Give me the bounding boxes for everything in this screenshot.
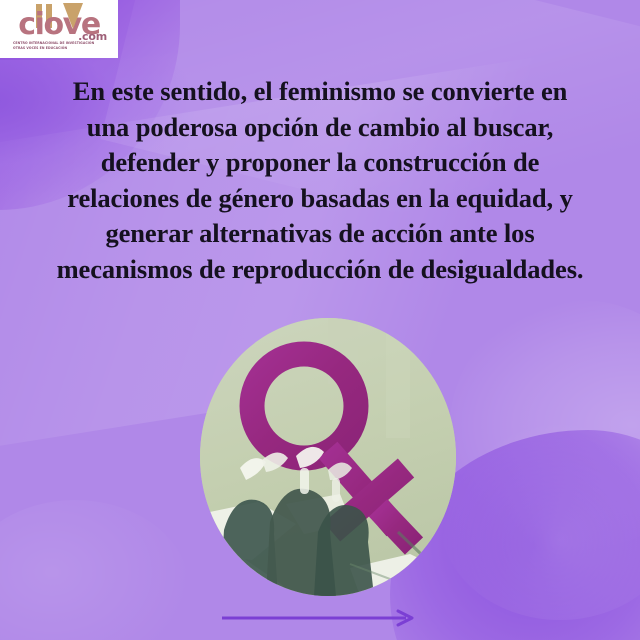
quote-line: En este sentido, el feminismo se convier… <box>18 74 622 110</box>
quote-text-block: En este sentido, el feminismo se convier… <box>18 74 622 287</box>
decorative-blob-bottom-left <box>0 500 190 640</box>
quote-line: mecanismos de reproducción de desigualda… <box>18 252 622 288</box>
quote-line: defender y proponer la construcción de <box>18 145 622 181</box>
feminist-protest-photo <box>200 318 456 596</box>
swipe-right-arrow[interactable] <box>222 609 418 627</box>
quote-line: una poderosa opción de cambio al buscar, <box>18 110 622 146</box>
ciiove-logo[interactable]: ciove .com CENTRO INTERNACIONAL DE INVES… <box>0 0 118 58</box>
logo-domain-suffix: .com <box>78 30 107 43</box>
arrow-right-icon <box>222 609 418 627</box>
logo-mark: ciove .com <box>9 10 109 40</box>
logo-tagline-line-2: OTRAS VOCES EN EDUCACIÓN <box>13 46 109 50</box>
quote-line: generar alternativas de acción ante los <box>18 216 622 252</box>
photo-illustration <box>200 318 456 596</box>
quote-line: relaciones de género basadas en la equid… <box>18 181 622 217</box>
logo-triangle-icon <box>63 3 83 29</box>
